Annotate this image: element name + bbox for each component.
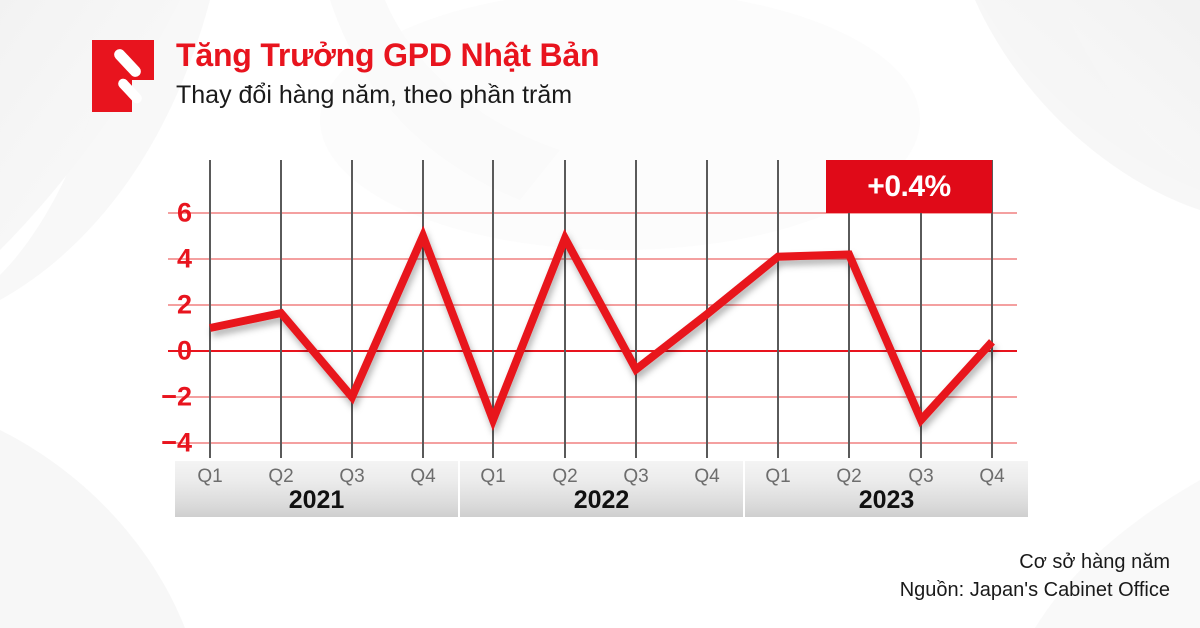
- callout-value-label: +0.4%: [867, 172, 950, 202]
- year-label-2022: 2022: [460, 486, 743, 514]
- x-axis: Q1 Q2 Q3 Q4 2021 Q1 Q2 Q3 Q4 2022 Q1 Q2 …: [0, 0, 1200, 628]
- status-badge: +0.4%: [826, 160, 992, 213]
- year-label-2021: 2021: [175, 486, 458, 514]
- year-group-2023: Q1 Q2 Q3 Q4 2023: [745, 461, 1028, 517]
- footer-note: Cơ sở hàng năm: [900, 548, 1170, 576]
- year-group-2021: Q1 Q2 Q3 Q4 2021: [175, 461, 458, 517]
- footer-source: Nguồn: Japan's Cabinet Office: [900, 576, 1170, 604]
- year-label-2023: 2023: [745, 486, 1028, 514]
- chart-footer: Cơ sở hàng năm Nguồn: Japan's Cabinet Of…: [900, 548, 1170, 604]
- year-group-2022: Q1 Q2 Q3 Q4 2022: [460, 461, 743, 517]
